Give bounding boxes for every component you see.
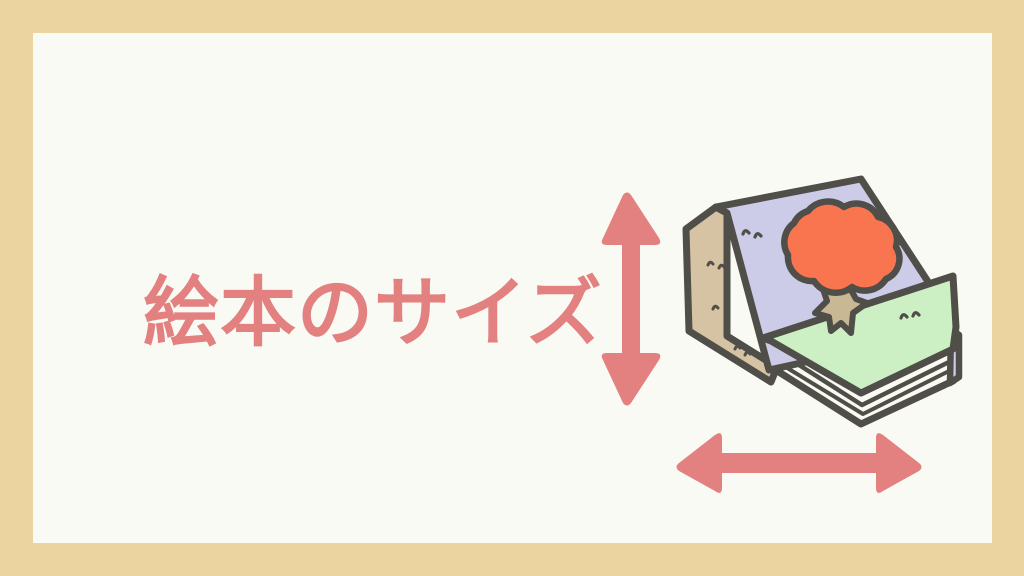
tree-foliage [784, 202, 899, 293]
picture-book-illustration [653, 171, 983, 437]
slide-canvas: 絵本のサイズ [0, 0, 1024, 576]
page-title: 絵本のサイズ [143, 265, 563, 361]
content-panel: 絵本のサイズ [33, 33, 992, 543]
